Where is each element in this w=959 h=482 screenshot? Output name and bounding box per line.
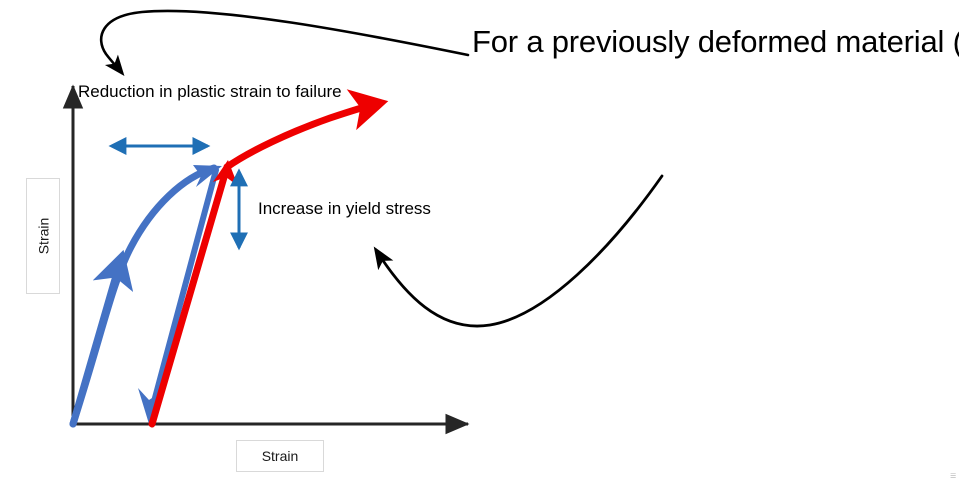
y-axis-label: Strain: [35, 218, 51, 255]
slide-canvas: For a previously deformed material (the …: [0, 0, 959, 482]
increase-in-yield-stress-label: Increase in yield stress: [258, 198, 431, 220]
deformed-curve-path: [152, 104, 376, 424]
deformed-material-curve: [152, 104, 376, 424]
stress-strain-diagram: [0, 0, 959, 482]
main-statement-text: For a previously deformed material (the …: [472, 22, 952, 62]
original-material-curve: [73, 165, 222, 424]
y-axis-label-box: Strain: [26, 178, 60, 294]
x-axis-label: Strain: [262, 448, 299, 464]
x-axis-label-box: Strain: [236, 440, 324, 472]
pointer-arrow-top: [101, 11, 468, 73]
corner-mark-icon: ☰: [950, 473, 956, 480]
reduction-in-plastic-strain-label: Reduction in plastic strain to failure: [78, 80, 293, 103]
